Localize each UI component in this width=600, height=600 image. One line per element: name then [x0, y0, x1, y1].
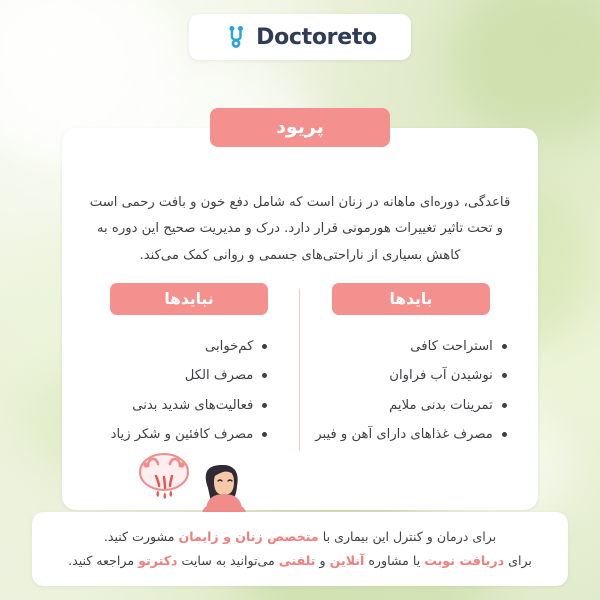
footer-text: مشورت کنید. — [104, 529, 179, 544]
intro-paragraph: قاعدگی، دوره‌ای ماهانه در زنان است که شا… — [88, 190, 512, 269]
poster-page: Doctoreto پریود قاعدگی، دوره‌ای ماهانه د… — [0, 0, 600, 600]
footer-card: برای درمان و کنترل این بیماری با متخصص ز… — [32, 512, 568, 586]
background-blotch — [450, 0, 600, 140]
footer-text: برای درمان و کنترل این بیماری با — [319, 529, 496, 544]
footer-line-2: برای دریافت نوبت یا مشاوره آنلاین و تلفن… — [46, 549, 554, 572]
brand-logo-card[interactable]: Doctoreto — [189, 14, 411, 60]
footer-text: برای — [504, 553, 532, 568]
donts-list: کم‌خوابی مصرف الکل فعالیت‌های شدید بدنی … — [111, 337, 268, 455]
footer-line-1: برای درمان و کنترل این بیماری با متخصص ز… — [46, 525, 554, 548]
list-item: مصرف کافئین و شکر زیاد — [111, 425, 268, 445]
list-item: فعالیت‌های شدید بدنی — [111, 396, 268, 416]
footer-link-online[interactable]: آنلاین — [330, 553, 365, 568]
footer-text: یا مشاوره — [364, 553, 424, 568]
footer-link-specialist[interactable]: متخصص زنان و زایمان — [178, 529, 318, 544]
list-item: نوشیدن آب فراوان — [315, 366, 507, 386]
content-card: پریود قاعدگی، دوره‌ای ماهانه در زنان است… — [62, 128, 538, 510]
footer-text: مراجعه کنید. — [68, 553, 138, 568]
donts-heading: نبایدها — [110, 283, 268, 315]
dos-list: استراحت کافی نوشیدن آب فراوان تمرینات بد… — [315, 337, 507, 455]
donts-column: نبایدها کم‌خوابی مصرف الکل فعالیت‌های شد… — [78, 283, 300, 455]
footer-link-doctoreto[interactable]: دکترتو — [138, 553, 177, 568]
dos-column: بایدها استراحت کافی نوشیدن آب فراوان تمر… — [300, 283, 522, 455]
list-item: مصرف غذاهای دارای آهن و فیبر — [315, 425, 507, 445]
list-item: استراحت کافی — [315, 337, 507, 357]
list-item: کم‌خوابی — [111, 337, 268, 357]
footer-text: و — [316, 553, 330, 568]
list-item: مصرف الکل — [111, 366, 268, 386]
list-item: تمرینات بدنی ملایم — [315, 396, 507, 416]
page-title: پریود — [210, 108, 390, 147]
footer-link-appointment[interactable]: دریافت نوبت — [424, 553, 504, 568]
doctoreto-logo-icon — [223, 24, 249, 50]
dos-heading: بایدها — [332, 283, 490, 315]
dos-and-donts-columns: بایدها استراحت کافی نوشیدن آب فراوان تمر… — [78, 283, 522, 455]
footer-text: می‌توانید به سایت — [178, 553, 279, 568]
footer-link-phone[interactable]: تلفنی — [279, 553, 316, 568]
brand-name: Doctoreto — [256, 25, 377, 50]
